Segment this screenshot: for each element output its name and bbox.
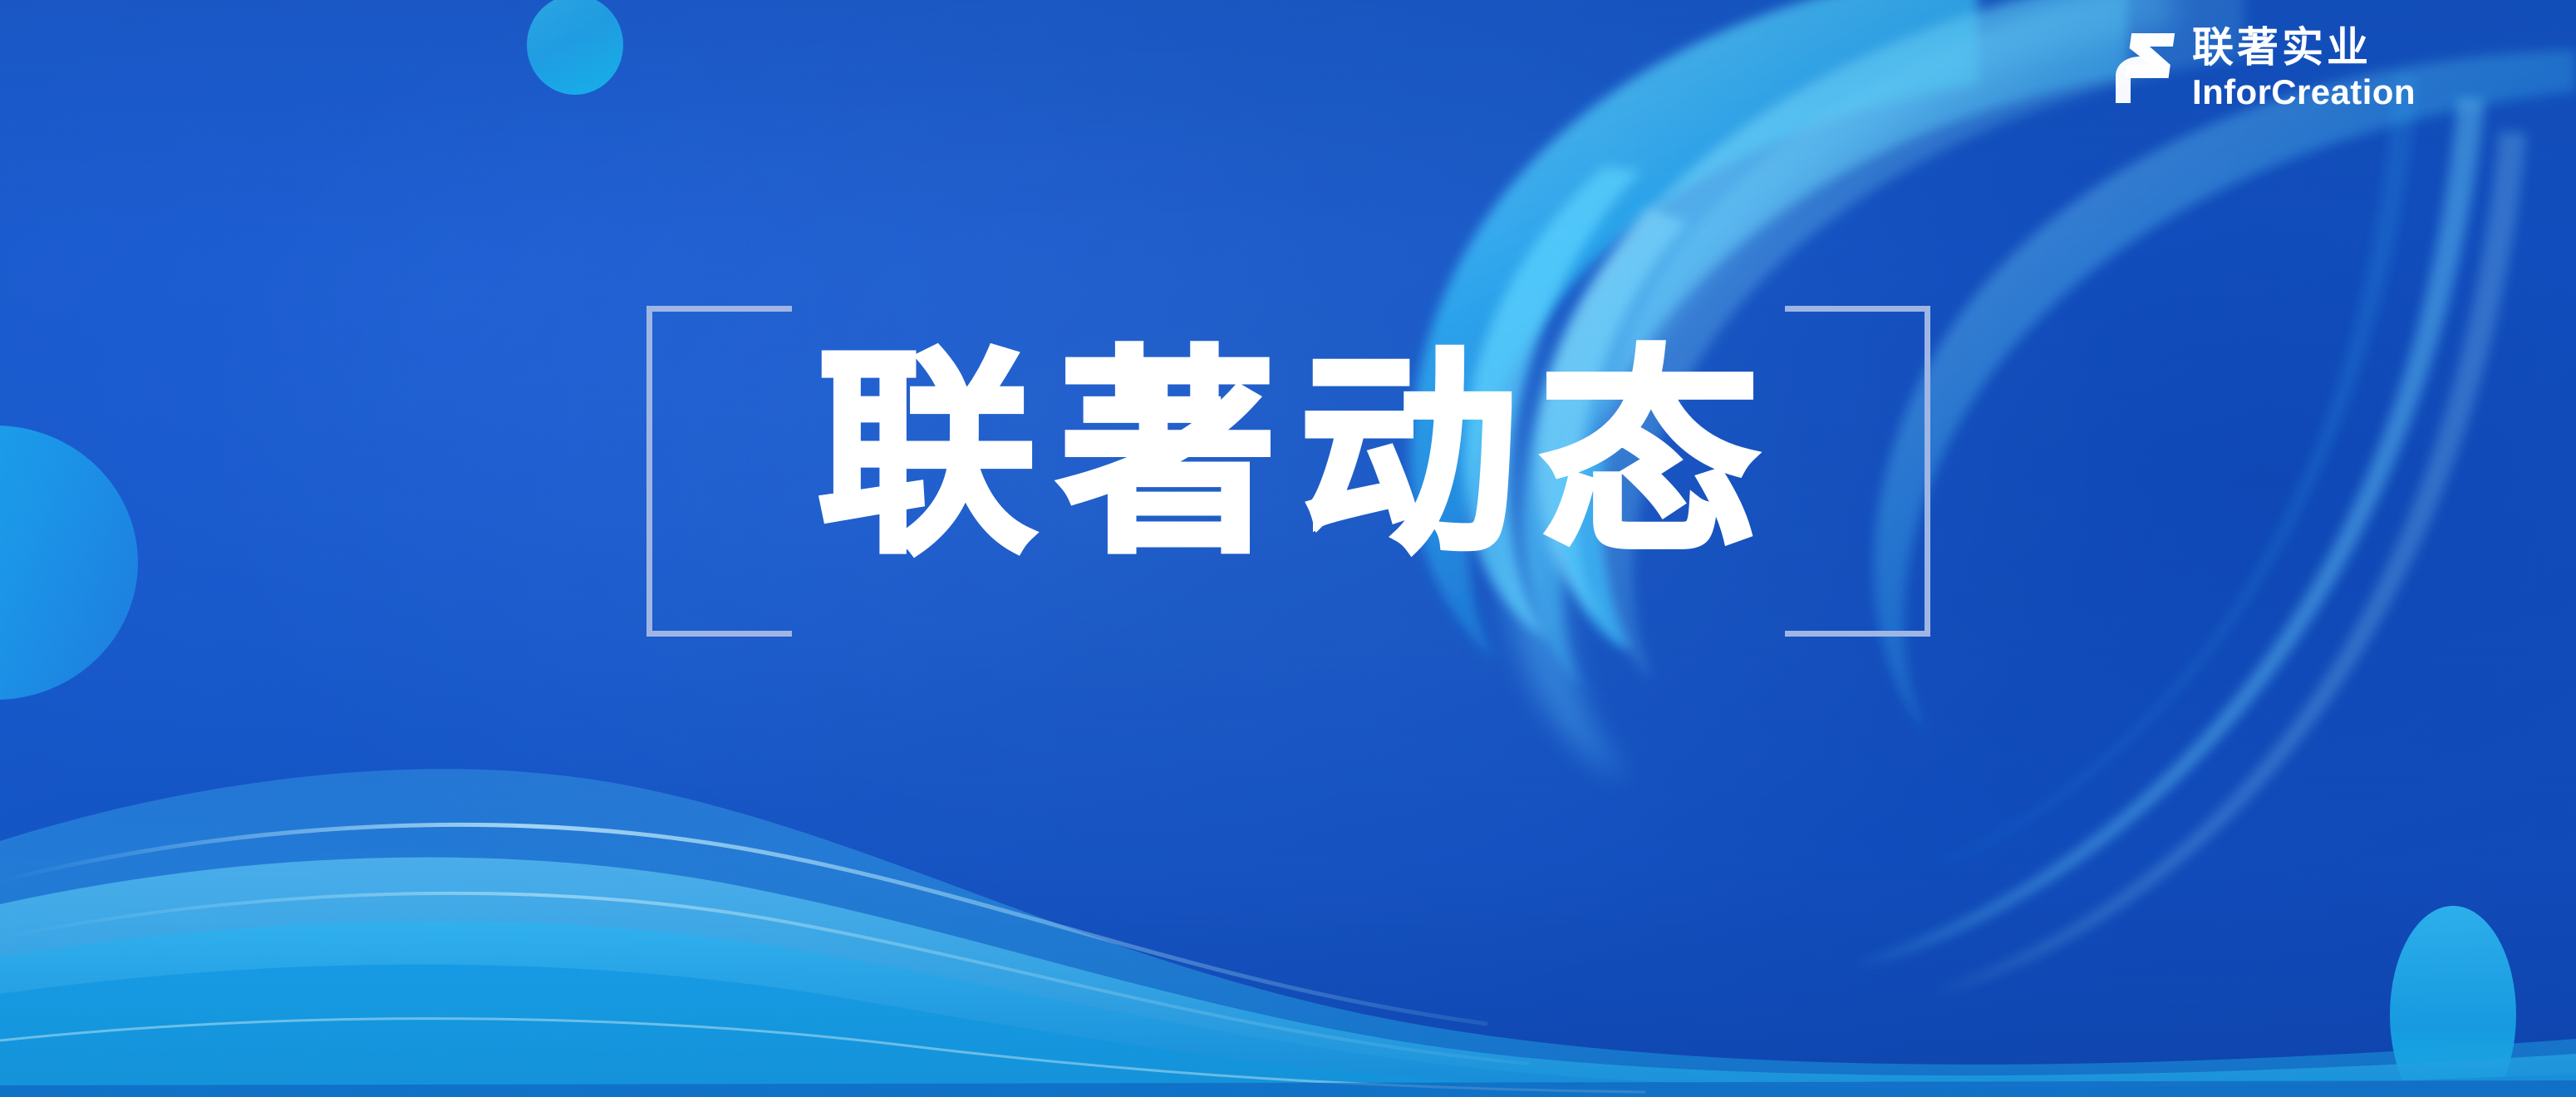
page-title: 联著动态 — [0, 331, 2576, 580]
inforcreation-logo-icon — [2109, 28, 2180, 108]
bottom-wave-bands — [0, 769, 2576, 1097]
news-banner: 联著动态 联著实业 InforCreation — [0, 0, 2576, 1097]
brand-logo-text: 联著实业 InforCreation — [2192, 27, 2416, 110]
brand-logo[interactable]: 联著实业 InforCreation — [2109, 25, 2416, 111]
company-name-cn: 联著实业 — [2192, 27, 2416, 68]
company-name-en: InforCreation — [2192, 75, 2416, 110]
